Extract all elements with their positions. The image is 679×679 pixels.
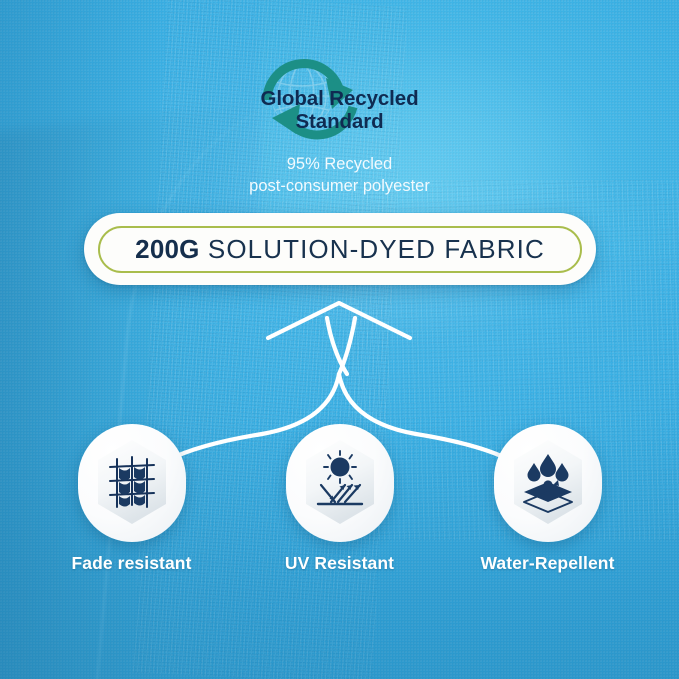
certification-block: Global Recycled Standard 95% Recycled po… [0,52,679,198]
certification-title: Global Recycled Standard [220,88,460,134]
fabric-banner-text: 200G SOLUTION-DYED FABRIC [135,234,545,265]
recycle-globe-icon: Global Recycled Standard [220,52,460,148]
feature-label-water-repellent: Water-Repellent [480,553,616,574]
certification-title-line2: Standard [220,111,460,134]
certification-subtitle: 95% Recycled post-consumer polyester [0,154,679,198]
feature-item-uv-resistant[interactable]: UV Resistant [272,424,408,574]
water-droplet-repel-icon [502,435,594,531]
feature-item-water-repellent[interactable]: Water-Repellent [480,424,616,574]
feature-label-uv-resistant: UV Resistant [272,553,408,574]
feature-item-fade-resistant[interactable]: Fade resistant [64,424,200,574]
fabric-weight-label: 200G [135,234,199,264]
sun-reflect-icon [294,435,386,531]
woven-fabric-mesh-icon [86,435,178,531]
feature-badge-fade-resistant [78,424,186,542]
feature-list: Fade resistant [0,424,679,574]
certification-subtitle-line1: 95% Recycled [0,154,679,176]
certification-subtitle-line2: post-consumer polyester [0,176,679,198]
feature-badge-water-repellent [494,424,602,542]
fabric-type-label: SOLUTION-DYED FABRIC [208,234,545,264]
fabric-feature-infographic: Global Recycled Standard 95% Recycled po… [0,0,679,679]
feature-label-fade-resistant: Fade resistant [64,553,200,574]
fabric-banner-border: 200G SOLUTION-DYED FABRIC [98,226,582,273]
feature-badge-uv-resistant [286,424,394,542]
fabric-banner: 200G SOLUTION-DYED FABRIC [84,213,596,285]
certification-title-line1: Global Recycled [220,88,460,111]
